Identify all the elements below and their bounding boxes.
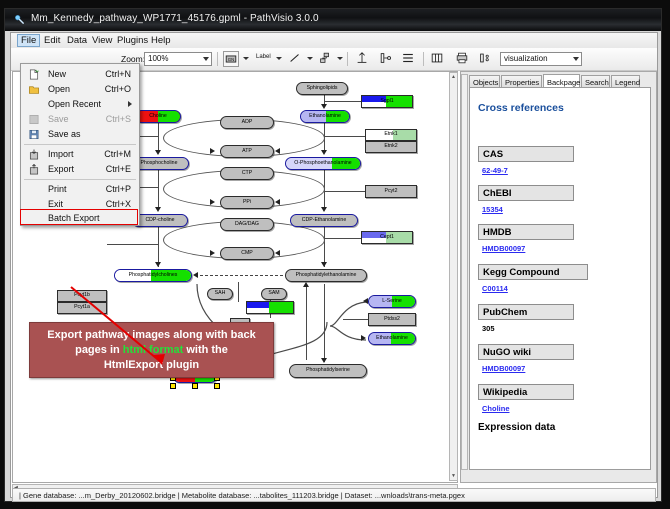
legend-tool-button[interactable]	[478, 51, 494, 67]
xref-value-hmdb[interactable]: HMDB00097	[482, 244, 525, 253]
datanode-dropdown-arrow[interactable]	[243, 57, 249, 60]
menu-separator-1	[24, 144, 136, 145]
menu-separator-2	[24, 179, 136, 180]
legend-icon	[478, 51, 492, 65]
submenu-arrow-icon	[128, 101, 132, 107]
side-panel-scrollbar[interactable]	[461, 74, 468, 470]
menu-item-save-as[interactable]: Save as	[21, 127, 139, 142]
open-folder-icon	[28, 84, 40, 95]
align-tool-button[interactable]	[355, 51, 371, 67]
menu-item-new[interactable]: New Ctrl+N	[21, 67, 139, 82]
xref-value-chebi[interactable]: 15354	[482, 205, 503, 214]
menu-item-label: Save as	[48, 129, 81, 139]
columns-tool-button[interactable]	[430, 51, 446, 67]
menu-item-label: Import	[48, 149, 74, 159]
import-icon	[28, 149, 40, 160]
save-icon	[28, 114, 40, 125]
menu-item-accel: Ctrl+E	[106, 164, 131, 174]
label-tool-label: Label	[256, 54, 271, 60]
menu-item-label: Open	[48, 84, 70, 94]
line-icon	[288, 51, 302, 65]
menu-item-label: Open Recent	[48, 99, 101, 109]
expression-data-heading: Expression data	[478, 422, 555, 433]
xref-value-cas[interactable]: 62-49-7	[482, 166, 508, 175]
interaction-icon	[318, 51, 332, 65]
visualization-value: visualization	[504, 54, 548, 63]
menu-item-label: Save	[48, 114, 69, 124]
file-menu-dropdown[interactable]: New Ctrl+N Open Ctrl+O Open Recent	[20, 63, 140, 226]
application-window: Mm_Kennedy_pathway_WP1771_45176.gpml - P…	[4, 8, 662, 502]
svg-text:GN: GN	[228, 57, 235, 62]
zoom-combo[interactable]: 100%	[144, 52, 212, 66]
interaction-tool-button[interactable]	[318, 51, 334, 67]
printer-icon	[455, 51, 469, 65]
xref-label-chebi: ChEBI	[478, 185, 574, 201]
menu-bar: File Edit Data View Plugins Help	[11, 33, 657, 49]
line-dropdown-arrow[interactable]	[307, 57, 313, 60]
menu-item-accel: Ctrl+S	[106, 114, 131, 124]
label-dropdown-arrow[interactable]	[276, 57, 282, 60]
menu-help[interactable]: Help	[147, 34, 175, 47]
window-title: Mm_Kennedy_pathway_WP1771_45176.gpml - P…	[31, 13, 319, 24]
toolbar-separator	[217, 52, 218, 66]
menu-item-accel: Ctrl+P	[106, 184, 131, 194]
batch-export-highlight	[20, 209, 138, 225]
export-icon	[28, 164, 40, 175]
menu-item-label: Exit	[48, 199, 63, 209]
zoom-value: 100%	[148, 54, 168, 63]
menu-item-label: Print	[48, 184, 67, 194]
order-tool-button[interactable]	[401, 51, 417, 67]
menu-item-export[interactable]: Export Ctrl+E	[21, 162, 139, 177]
line-tool-button[interactable]	[288, 51, 304, 67]
xref-value-kegg[interactable]: C00114	[482, 284, 508, 293]
columns-icon	[430, 51, 444, 65]
chevron-down-icon-2	[573, 57, 579, 61]
toolbar-separator-2	[347, 52, 348, 66]
backpage-content: Cross references CAS 62-49-7 ChEBI 15354…	[469, 87, 651, 470]
menu-item-print[interactable]: Print Ctrl+P	[21, 182, 139, 197]
status-text: | Gene database: ...m_Derby_20120602.bri…	[19, 491, 465, 500]
menu-item-accel: Ctrl+X	[106, 199, 131, 209]
cross-references-heading: Cross references	[478, 102, 564, 114]
title-bar: Mm_Kennedy_pathway_WP1771_45176.gpml - P…	[5, 9, 661, 31]
side-panel-tabs: Objects Properties Backpage Search Legen…	[469, 74, 656, 88]
xref-label-nugo: NuGO wiki	[478, 344, 574, 360]
side-panel: Objects Properties Backpage Search Legen…	[460, 71, 657, 483]
menu-item-import[interactable]: Import Ctrl+M	[21, 147, 139, 162]
pathvisio-icon	[14, 14, 25, 25]
interaction-dropdown-arrow[interactable]	[337, 57, 343, 60]
datanode-icon: GN	[224, 52, 238, 66]
new-file-icon	[28, 69, 40, 80]
xref-value-nugo[interactable]: HMDB00097	[482, 364, 525, 373]
visualization-combo[interactable]: visualization	[500, 52, 582, 66]
xref-label-pubchem: PubChem	[478, 304, 574, 320]
xref-label-hmdb: HMDB	[478, 224, 574, 240]
menu-item-label: New	[48, 69, 66, 79]
menu-item-accel: Ctrl+O	[105, 84, 131, 94]
menu-data[interactable]: Data	[63, 34, 91, 47]
window-content: File Edit Data View Plugins Help Zoom: 1…	[10, 32, 658, 498]
menu-item-save: Save Ctrl+S	[21, 112, 139, 127]
menu-edit[interactable]: Edit	[40, 34, 64, 47]
menu-file[interactable]: File	[17, 34, 40, 47]
xref-label-kegg: Kegg Compound	[478, 264, 588, 280]
align-icon	[355, 51, 369, 65]
menu-item-open-recent[interactable]: Open Recent	[21, 97, 139, 112]
xref-label-cas: CAS	[478, 146, 574, 162]
order-icon	[401, 51, 415, 65]
menu-item-accel: Ctrl+M	[104, 149, 131, 159]
menu-item-accel: Ctrl+N	[105, 69, 131, 79]
menu-item-label: Export	[48, 164, 74, 174]
chevron-down-icon	[203, 57, 209, 61]
group-tool-button[interactable]	[379, 51, 395, 67]
screenshot-root: Mm_Kennedy_pathway_WP1771_45176.gpml - P…	[0, 0, 670, 509]
save-as-icon	[28, 129, 40, 140]
group-icon	[379, 51, 393, 65]
xref-value-pubchem: 305	[482, 324, 495, 333]
xref-value-wikipedia[interactable]: Choline	[482, 404, 510, 413]
toolbar-separator-3	[423, 52, 424, 66]
xref-label-wikipedia: Wikipedia	[478, 384, 574, 400]
print-tool-button[interactable]	[455, 51, 471, 67]
datanode-tool-button[interactable]: GN	[223, 51, 239, 67]
status-bar: | Gene database: ...m_Derby_20120602.bri…	[12, 488, 656, 502]
menu-item-open[interactable]: Open Ctrl+O	[21, 82, 139, 97]
